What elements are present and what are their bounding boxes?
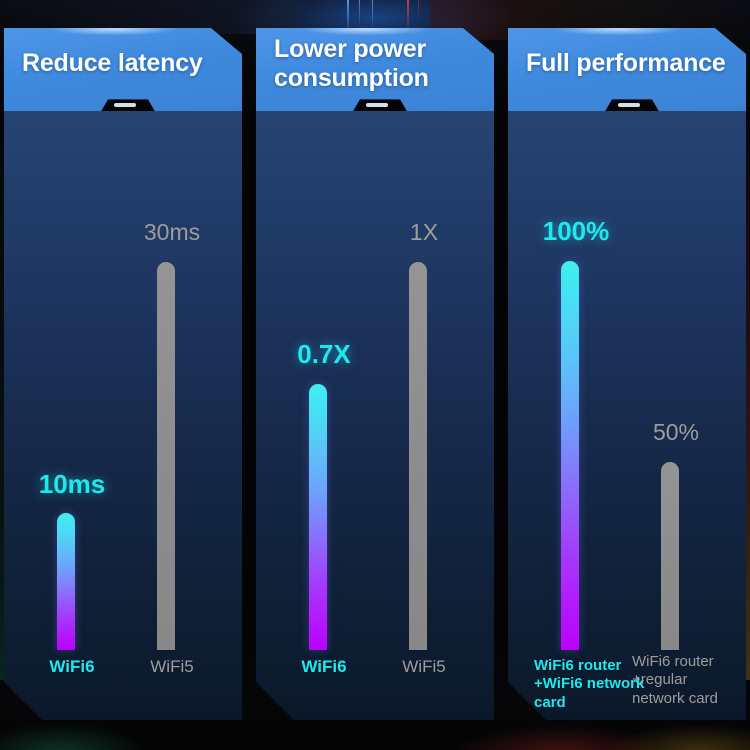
bar-chart: 10ms WiFi6 30ms WiFi5 [4,111,242,720]
bar-value-label: 0.7X [274,339,374,370]
panel-full-performance: Full performance 100% WiFi6 router +WiFi… [508,28,746,720]
bar-muted [409,262,427,650]
header-notch-tick-icon [618,103,640,107]
bar-group-wifi6: 10ms WiFi6 [22,111,122,720]
bar-group-wifi5: 1X WiFi5 [374,111,474,720]
bar-group-wifi5: 30ms WiFi5 [122,111,222,720]
bar-value-label: 100% [526,216,626,247]
bar-caption: WiFi5 [120,657,224,677]
page-title: Lower power consumption [274,28,482,99]
bar-muted [661,462,679,650]
light-streak-cyan-icon [372,0,373,31]
bar-value-label: 50% [626,419,726,446]
bar-value-label: 30ms [122,219,222,246]
bar-group-wifi6-router-regular-card: 50% WiFi6 router +regular network card [626,111,726,720]
light-streak-red-secondary-icon [418,0,419,24]
panel-lower-power-consumption: Lower power consumption 0.7X WiFi6 1X Wi… [256,28,494,720]
bar-accent [309,384,327,650]
panel-header: Reduce latency [4,28,242,113]
header-notch-tick-icon [114,103,136,107]
bar-chart: 100% WiFi6 router +WiFi6 network card 50… [508,111,746,720]
bar-accent [57,513,75,650]
bar-group-wifi6-router-wifi6-card: 100% WiFi6 router +WiFi6 network card [526,111,626,720]
bar-caption: WiFi6 [272,657,376,677]
bar-caption: WiFi6 [20,657,124,677]
page-title: Full performance [526,28,734,99]
bar-accent [561,261,579,650]
header-notch-tick-icon [366,103,388,107]
bar-value-label: 1X [374,219,474,246]
panel-reduce-latency: Reduce latency 10ms WiFi6 30ms WiFi5 [4,28,242,720]
panel-header: Lower power consumption [256,28,494,113]
bar-chart: 0.7X WiFi6 1X WiFi5 [256,111,494,720]
infographic-stage: Reduce latency 10ms WiFi6 30ms WiFi5 Low… [0,0,750,750]
light-streak-blue-secondary-icon [359,0,360,28]
page-title: Reduce latency [22,28,230,99]
bar-caption: WiFi5 [372,657,476,677]
bar-value-label: 10ms [22,469,122,500]
bar-group-wifi6: 0.7X WiFi6 [274,111,374,720]
bar-muted [157,262,175,650]
bar-caption: WiFi6 router +regular network card [632,653,744,708]
panel-header: Full performance [508,28,746,113]
